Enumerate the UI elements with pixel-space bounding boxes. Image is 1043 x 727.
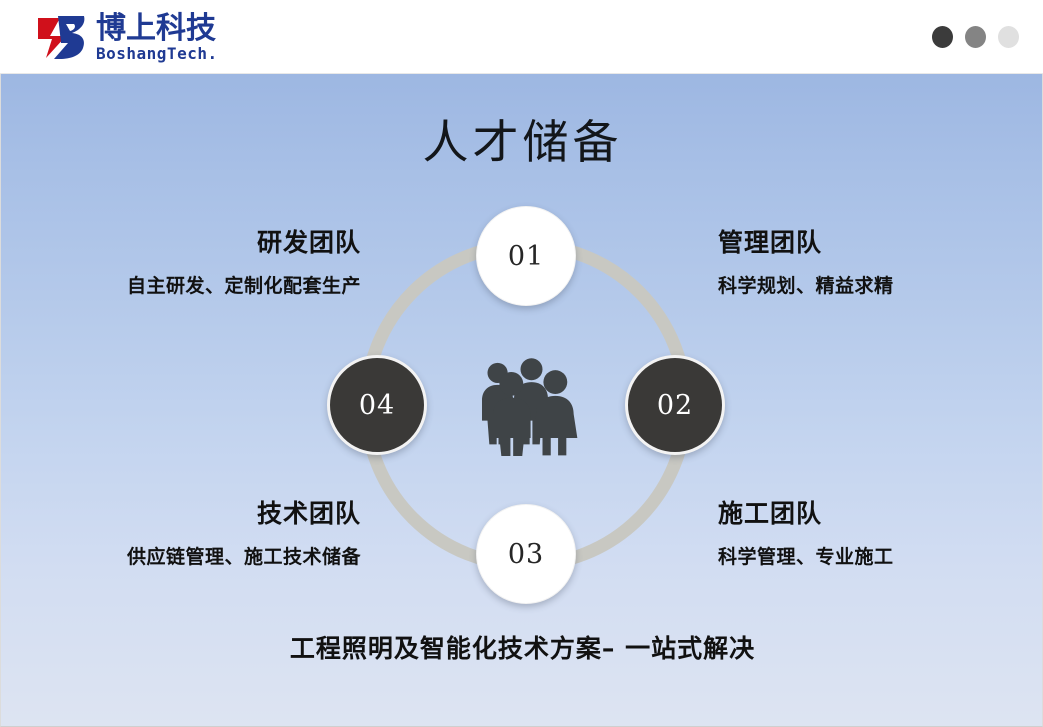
boshang-b-monogram-icon — [36, 12, 90, 62]
label-rd-team-heading: 研发团队 — [1, 223, 361, 259]
dot-active[interactable] — [932, 26, 953, 48]
dot-inactive[interactable] — [998, 26, 1019, 48]
diagram-node-02[interactable]: 02 — [625, 355, 725, 455]
label-construction-team: 施工团队 科学管理、专业施工 — [718, 494, 1038, 569]
slide-footer-caption: 工程照明及智能化技术方案– 一站式解决 — [1, 629, 1043, 665]
slide-progress-dots[interactable] — [932, 26, 1019, 48]
logo-company-name-en: BoshangTech. — [96, 46, 218, 62]
circular-team-diagram: 01 02 03 04 — [328, 207, 724, 603]
company-logo[interactable]: 博上科技 BoshangTech. — [36, 9, 218, 65]
dot-mid[interactable] — [965, 26, 986, 48]
diagram-node-04-label: 04 — [359, 390, 395, 421]
group-of-people-icon — [466, 345, 586, 465]
label-construction-team-subtitle: 科学管理、专业施工 — [718, 542, 1038, 569]
label-management-team: 管理团队 科学规划、精益求精 — [718, 223, 1038, 298]
diagram-node-03-label: 03 — [508, 539, 544, 570]
logo-company-name-cn: 博上科技 — [96, 14, 218, 45]
diagram-node-02-label: 02 — [657, 390, 693, 421]
presentation-slide: 博上科技 BoshangTech. 人才储备 研发团队 自主研发、定制化配套生产… — [0, 0, 1043, 727]
label-rd-team: 研发团队 自主研发、定制化配套生产 — [1, 223, 361, 298]
label-technical-team: 技术团队 供应链管理、施工技术储备 — [1, 494, 361, 569]
label-management-team-heading: 管理团队 — [718, 223, 1038, 259]
logo-text-block: 博上科技 BoshangTech. — [96, 12, 218, 63]
label-technical-team-heading: 技术团队 — [1, 494, 361, 530]
slide-body: 人才储备 研发团队 自主研发、定制化配套生产 管理团队 科学规划、精益求精 技术… — [0, 74, 1043, 727]
page-title: 人才储备 — [1, 106, 1043, 172]
label-technical-team-subtitle: 供应链管理、施工技术储备 — [1, 542, 361, 569]
label-construction-team-heading: 施工团队 — [718, 494, 1038, 530]
diagram-node-01[interactable]: 01 — [476, 206, 576, 306]
diagram-node-04[interactable]: 04 — [327, 355, 427, 455]
label-rd-team-subtitle: 自主研发、定制化配套生产 — [1, 271, 361, 298]
label-management-team-subtitle: 科学规划、精益求精 — [718, 271, 1038, 298]
diagram-node-03[interactable]: 03 — [476, 504, 576, 604]
diagram-node-01-label: 01 — [508, 241, 544, 272]
slide-header: 博上科技 BoshangTech. — [0, 0, 1043, 74]
